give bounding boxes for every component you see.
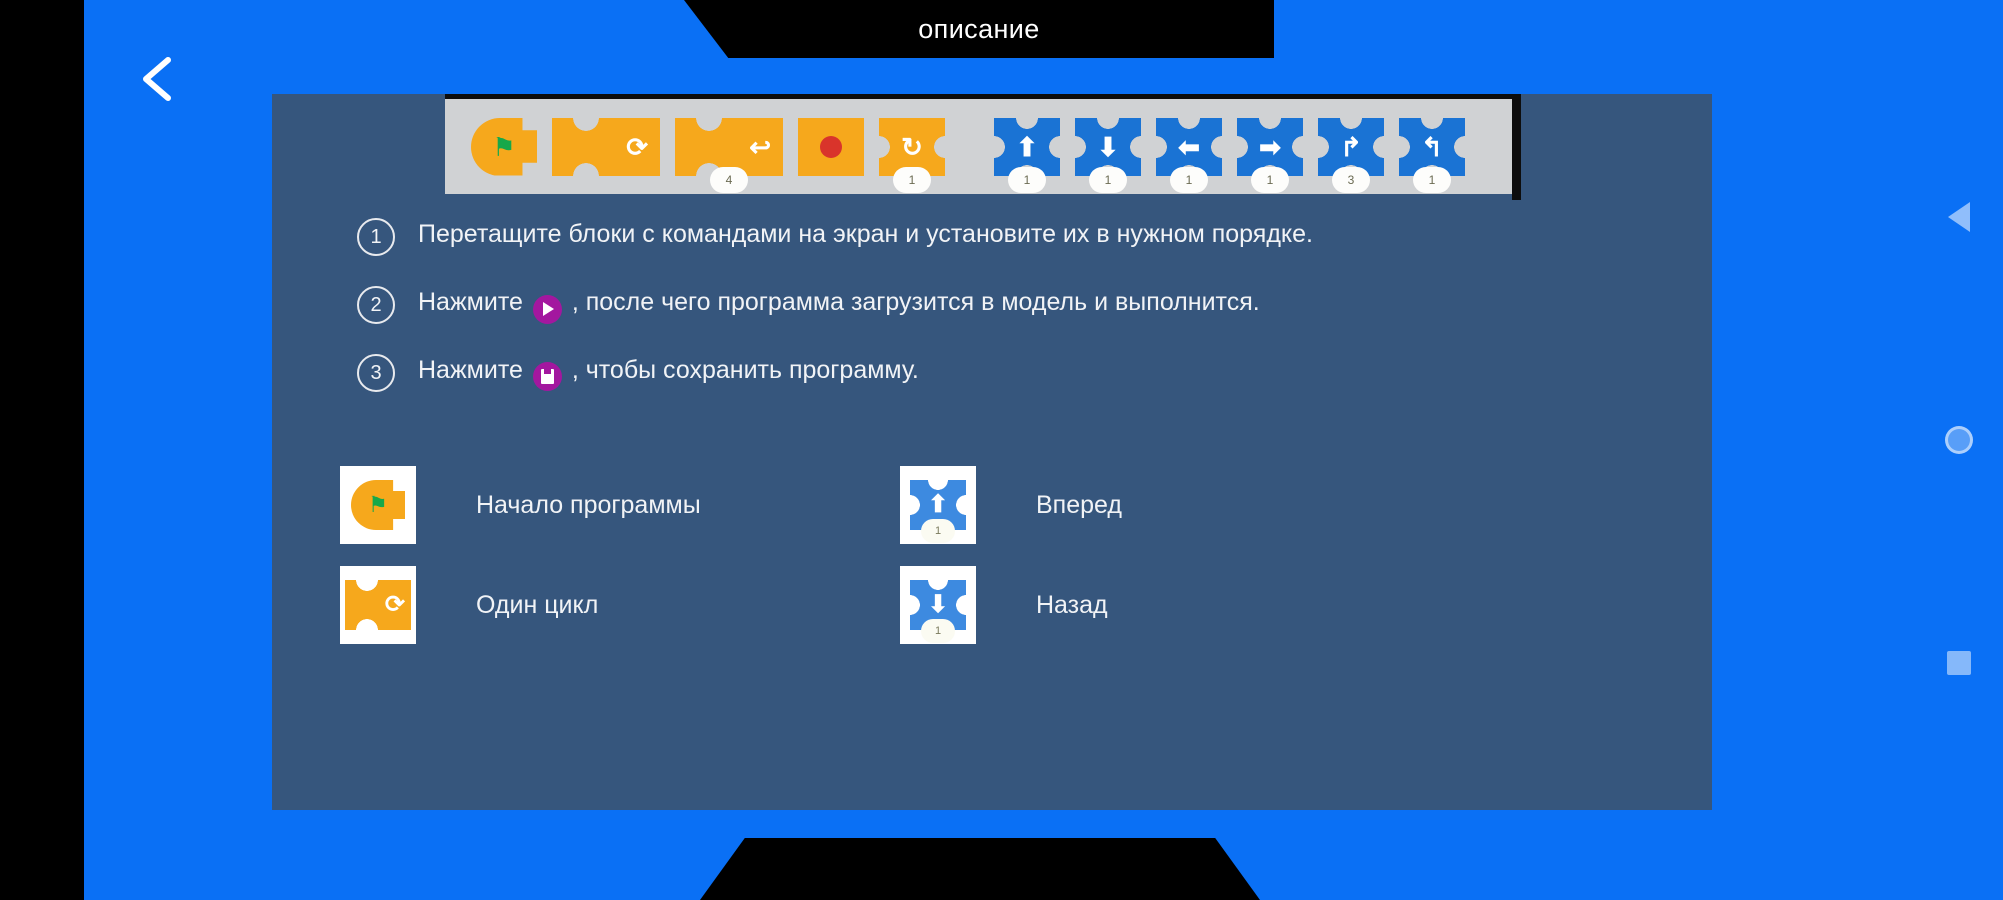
system-navigation-bar (1929, 200, 1989, 680)
step-text-part: Перетащите блоки с командами на экран и … (418, 220, 1313, 248)
legend-value-bubble: 1 (921, 619, 955, 643)
palette-block-loop-forever[interactable]: ⟳ (552, 118, 660, 176)
block-palette-container: ⚑ ⟳ ↩ 4 (445, 94, 1521, 200)
green-flag-block-icon: ⚑ (351, 480, 405, 530)
block-shape-wave: ⟳ (552, 118, 660, 176)
app-screen: описание ⚑ (0, 0, 2003, 900)
device-bezel-left (0, 0, 84, 900)
page-title: описание (918, 14, 1039, 45)
loop-back-arrow-icon: ↩ (749, 134, 771, 160)
loop-repeat-icon: ⟳ (626, 134, 648, 160)
block-shape-rect (798, 118, 864, 176)
palette-block-wait-timer[interactable]: ↻ 1 (879, 118, 945, 176)
instruction-step: 3 Нажмите , чтобы сохранить программу. (357, 352, 1587, 392)
block-value-bubble[interactable]: 1 (1251, 167, 1289, 193)
step-text-part: Нажмите (418, 356, 523, 384)
step-text-part: Нажмите (418, 288, 523, 316)
instruction-steps: 1 Перетащите блоки с командами на экран … (357, 216, 1587, 420)
arrow-left-icon: ⬅ (1178, 134, 1200, 160)
block-value-bubble[interactable]: 3 (1332, 167, 1370, 193)
palette-block-start[interactable]: ⚑ (471, 118, 537, 176)
system-home-button[interactable] (1942, 423, 1976, 457)
legend-label: Назад (1036, 591, 1108, 620)
block-value-bubble[interactable]: 1 (1170, 167, 1208, 193)
legend-label: Один цикл (476, 591, 598, 620)
legend-block-tile: ⬇ 1 (900, 566, 976, 644)
turn-left-curved-icon: ↰ (1421, 134, 1443, 160)
palette-block-move-right[interactable]: ➡ 1 (1237, 118, 1303, 176)
legend-block-tile: ⬆ 1 (900, 466, 976, 544)
block-value-bubble[interactable]: 4 (710, 167, 748, 193)
instruction-step: 2 Нажмите , после чего программа загрузи… (357, 284, 1587, 324)
legend-block-tile: ⟳ (340, 566, 416, 644)
step-text: Перетащите блоки с командами на экран и … (418, 216, 1313, 252)
turn-right-curved-icon: ↱ (1340, 134, 1362, 160)
system-recents-button[interactable] (1942, 646, 1976, 680)
step-number-badge: 3 (357, 354, 395, 392)
square-recents-icon (1947, 651, 1971, 675)
legend-label: Вперед (1036, 491, 1122, 520)
block-value-bubble[interactable]: 1 (1413, 167, 1451, 193)
block-legend: ⚑ Начало программы ⬆ 1 Вперед (340, 466, 1640, 644)
legend-value-bubble: 1 (921, 519, 955, 543)
palette-block-turn-left[interactable]: ↰ 1 (1399, 118, 1465, 176)
step-text: Нажмите , после чего программа загрузитс… (418, 284, 1260, 324)
palette-right-edge (1512, 94, 1521, 200)
palette-block-move-left[interactable]: ⬅ 1 (1156, 118, 1222, 176)
timer-clock-icon: ↻ (901, 134, 923, 160)
step-number-badge: 2 (357, 286, 395, 324)
back-button[interactable] (128, 48, 190, 110)
green-flag-icon: ⚑ (492, 134, 515, 160)
system-back-button[interactable] (1942, 200, 1976, 234)
chevron-left-icon (128, 48, 190, 110)
instruction-step: 1 Перетащите блоки с командами на экран … (357, 216, 1587, 256)
step-text-part: , после чего программа загрузится в моде… (572, 288, 1260, 316)
block-value-bubble[interactable]: 1 (1008, 167, 1046, 193)
legend-block-tile: ⚑ (340, 466, 416, 544)
arrow-down-icon: ⬇ (1097, 134, 1119, 160)
save-icon (533, 362, 562, 391)
loop-block-icon: ⟳ (345, 580, 411, 630)
step-text: Нажмите , чтобы сохранить программу. (418, 352, 919, 391)
description-panel: ⚑ ⟳ ↩ 4 (272, 94, 1712, 810)
step-text-part: , чтобы сохранить программу. (572, 356, 919, 384)
block-value-bubble[interactable]: 1 (893, 167, 931, 193)
legend-item: ⬆ 1 Вперед (900, 466, 1460, 544)
palette-block-stop[interactable] (798, 118, 864, 176)
bottom-notch-bar (700, 838, 1260, 900)
palette-block-move-forward[interactable]: ⬆ 1 (994, 118, 1060, 176)
palette-block-turn-right[interactable]: ↱ 3 (1318, 118, 1384, 176)
title-bar: описание (684, 0, 1274, 58)
circle-home-icon (1945, 426, 1973, 454)
block-palette[interactable]: ⚑ ⟳ ↩ 4 (445, 99, 1521, 194)
block-shape-hat: ⚑ (471, 118, 537, 176)
red-stop-dot-icon (820, 136, 842, 158)
step-number-badge: 1 (357, 218, 395, 256)
palette-block-move-back[interactable]: ⬇ 1 (1075, 118, 1141, 176)
legend-item: ⚑ Начало программы (340, 466, 900, 544)
block-value-bubble[interactable]: 1 (1089, 167, 1127, 193)
play-icon (533, 295, 562, 324)
legend-item: ⬇ 1 Назад (900, 566, 1460, 644)
arrow-right-icon: ➡ (1259, 134, 1281, 160)
legend-item: ⟳ Один цикл (340, 566, 900, 644)
triangle-back-icon (1948, 202, 1970, 232)
palette-block-loop-count[interactable]: ↩ 4 (675, 118, 783, 176)
legend-label: Начало программы (476, 491, 701, 520)
arrow-up-icon: ⬆ (1016, 134, 1038, 160)
